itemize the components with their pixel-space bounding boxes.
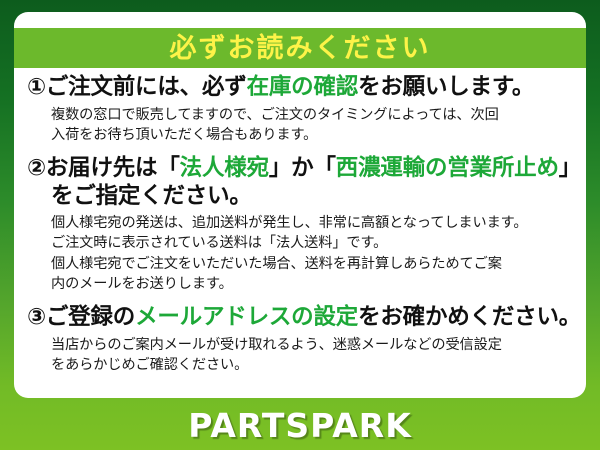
footer-logo: PARTSPARK	[0, 400, 600, 450]
item-1-number: ①	[27, 74, 46, 100]
notice-body: ①ご注文前には、必ず在庫の確認をお願いします。 複数の窓口で販売してますので、ご…	[14, 74, 586, 377]
notice-item-3: ③ご登録のメールアドレスの設定をお確かめください。 当店からのご案内メールが受け…	[27, 304, 573, 375]
brand-logo-text: PARTSPARK	[188, 409, 412, 442]
item-2-headline-part-3: 」か「	[269, 155, 336, 181]
item-2-number: ②	[27, 155, 46, 181]
notice-item-1: ①ご注文前には、必ず在庫の確認をお願いします。 複数の窓口で販売してますので、ご…	[27, 74, 573, 145]
item-2-subtext-line-3: 個人様宅宛でご注文をいただいた場合、送料を再計算しあらためてご案	[51, 254, 573, 274]
item-2-headline-highlight-1: 法人様宛	[180, 155, 269, 181]
title-banner: 必ずお読みください	[14, 28, 586, 68]
notice-panel: 必ずお読みください ①ご注文前には、必ず在庫の確認をお願いします。 複数の窓口で…	[14, 12, 586, 398]
item-3-subtext: 当店からのご案内メールが受け取れるよう、迷惑メールなどの受信設定 をあらかじめご…	[27, 335, 573, 375]
item-1-subtext-line-1: 複数の窓口で販売してますので、ご注文のタイミングによっては、次回	[51, 105, 573, 125]
item-2-headline-line-2: をご指定ください。	[27, 183, 573, 211]
item-2-headline-part-1: お届け先は「	[46, 155, 180, 181]
item-2-subtext: 個人様宅宛の発送は、追加送料が発生し、非常に高額となってしまいます。 ご注文時に…	[27, 213, 573, 294]
item-3-number: ③	[27, 304, 46, 330]
item-1-subtext: 複数の窓口で販売してますので、ご注文のタイミングによっては、次回 入荷をお待ち頂…	[27, 105, 573, 145]
item-3-headline-part-1: ご登録の	[46, 304, 135, 330]
item-1-headline-part-3: をお願いします。	[358, 74, 534, 100]
item-1-headline-part-1: ご注文前には、必ず	[46, 74, 247, 100]
item-2-headline-part-5: 」	[559, 155, 581, 181]
item-3-headline: ③ご登録のメールアドレスの設定をお確かめください。	[27, 304, 573, 332]
item-1-headline-highlight: 在庫の確認	[247, 74, 359, 100]
item-3-headline-part-3: をお確かめください。	[358, 304, 581, 330]
notice-card: 必ずお読みください ①ご注文前には、必ず在庫の確認をお願いします。 複数の窓口で…	[0, 0, 600, 450]
item-2-subtext-line-1: 個人様宅宛の発送は、追加送料が発生し、非常に高額となってしまいます。	[51, 213, 573, 233]
item-3-subtext-line-1: 当店からのご案内メールが受け取れるよう、迷惑メールなどの受信設定	[51, 335, 573, 355]
item-1-subtext-line-2: 入荷をお待ち頂いただく場合もあります。	[51, 125, 573, 145]
item-3-headline-highlight: メールアドレスの設定	[135, 304, 358, 330]
item-2-headline-highlight-2: 西濃運輸の営業所止め	[336, 155, 559, 181]
banner-title: 必ずお読みください	[170, 35, 431, 62]
item-2-headline: ②お届け先は「法人様宛」か「西濃運輸の営業所止め」	[27, 155, 573, 183]
notice-item-2: ②お届け先は「法人様宛」か「西濃運輸の営業所止め」 をご指定ください。 個人様宅…	[27, 155, 573, 294]
item-2-subtext-line-2: ご注文時に表示されている送料は「法人送料」です。	[51, 233, 573, 253]
item-1-headline: ①ご注文前には、必ず在庫の確認をお願いします。	[27, 74, 573, 102]
item-3-subtext-line-2: をあらかじめご確認ください。	[51, 355, 573, 375]
item-2-subtext-line-4: 内のメールをお送りします。	[51, 274, 573, 294]
